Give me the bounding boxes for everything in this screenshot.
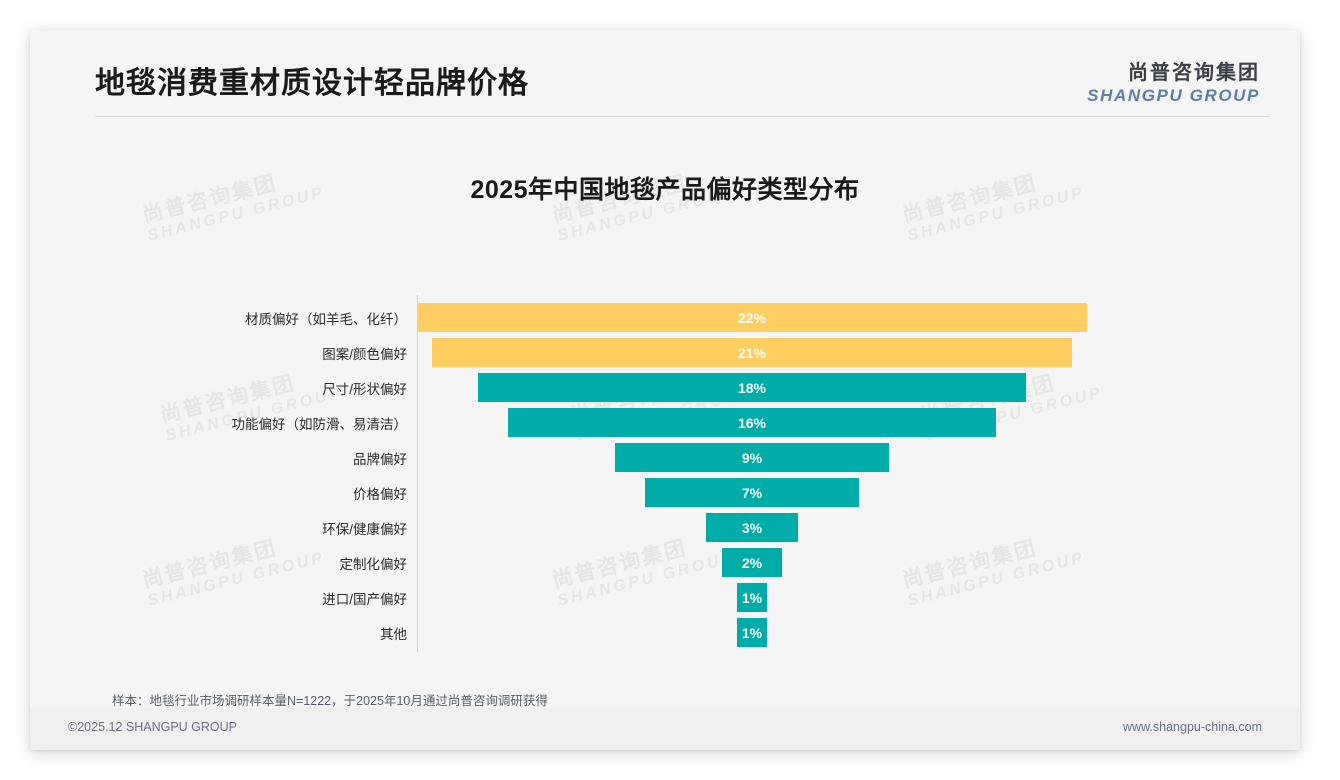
bar-value-label: 18% (738, 380, 766, 396)
funnel-bar[interactable]: 7% (645, 478, 858, 507)
brand-logo-en: SHANGPU GROUP (1087, 86, 1260, 106)
category-label: 价格偏好 (30, 483, 407, 503)
category-label: 图案/颜色偏好 (30, 343, 407, 363)
bar-value-label: 1% (742, 590, 762, 606)
chart-row: 材质偏好（如羊毛、化纤）22% (30, 303, 1300, 332)
chart-row: 进口/国产偏好1% (30, 583, 1300, 612)
bar-value-label: 21% (738, 345, 766, 361)
chart-row: 品牌偏好9% (30, 443, 1300, 472)
title-divider (95, 116, 1270, 117)
chart-row: 尺寸/形状偏好18% (30, 373, 1300, 402)
funnel-bar[interactable]: 2% (722, 548, 783, 577)
category-label: 进口/国产偏好 (30, 588, 407, 608)
category-label: 品牌偏好 (30, 448, 407, 468)
chart-row: 环保/健康偏好3% (30, 513, 1300, 542)
bar-value-label: 7% (742, 485, 762, 501)
funnel-bar[interactable]: 1% (737, 583, 767, 612)
chart-row: 价格偏好7% (30, 478, 1300, 507)
funnel-bar[interactable]: 21% (432, 338, 1072, 367)
bar-value-label: 22% (738, 310, 766, 326)
slide-card: 尚普咨询集团SHANGPU GROUP尚普咨询集团SHANGPU GROUP尚普… (30, 30, 1300, 750)
category-label: 功能偏好（如防滑、易清洁） (30, 413, 407, 433)
funnel-bar[interactable]: 22% (417, 303, 1087, 332)
footer-copyright: ©2025.12 SHANGPU GROUP (68, 720, 237, 734)
funnel-chart: 材质偏好（如羊毛、化纤）22%图案/颜色偏好21%尺寸/形状偏好18%功能偏好（… (30, 265, 1300, 665)
chart-row: 图案/颜色偏好21% (30, 338, 1300, 367)
chart-row: 定制化偏好2% (30, 548, 1300, 577)
page-title: 地毯消费重材质设计轻品牌价格 (95, 58, 529, 102)
bar-value-label: 16% (738, 415, 766, 431)
category-label: 定制化偏好 (30, 553, 407, 573)
funnel-bar[interactable]: 3% (706, 513, 797, 542)
funnel-bar[interactable]: 18% (478, 373, 1026, 402)
footer-website[interactable]: www.shangpu-china.com (1123, 720, 1262, 734)
category-label: 材质偏好（如羊毛、化纤） (30, 308, 407, 328)
chart-title: 2025年中国地毯产品偏好类型分布 (30, 170, 1300, 206)
funnel-bar[interactable]: 9% (615, 443, 889, 472)
funnel-bar[interactable]: 16% (508, 408, 995, 437)
slide-footer: ©2025.12 SHANGPU GROUP www.shangpu-china… (30, 708, 1300, 750)
category-label: 其他 (30, 623, 407, 643)
chart-row: 功能偏好（如防滑、易清洁）16% (30, 408, 1300, 437)
chart-row: 其他1% (30, 618, 1300, 647)
slide-header: 地毯消费重材质设计轻品牌价格 尚普咨询集团 SHANGPU GROUP (30, 30, 1300, 120)
brand-logo: 尚普咨询集团 SHANGPU GROUP (1087, 62, 1260, 106)
brand-logo-cn: 尚普咨询集团 (1087, 62, 1260, 86)
funnel-bar[interactable]: 1% (737, 618, 767, 647)
sample-note: 样本：地毯行业市场调研样本量N=1222，于2025年10月通过尚普咨询调研获得 (112, 690, 548, 709)
category-label: 尺寸/形状偏好 (30, 378, 407, 398)
bar-value-label: 3% (742, 520, 762, 536)
category-label: 环保/健康偏好 (30, 518, 407, 538)
bar-value-label: 2% (742, 555, 762, 571)
bar-value-label: 1% (742, 625, 762, 641)
bar-value-label: 9% (742, 450, 762, 466)
